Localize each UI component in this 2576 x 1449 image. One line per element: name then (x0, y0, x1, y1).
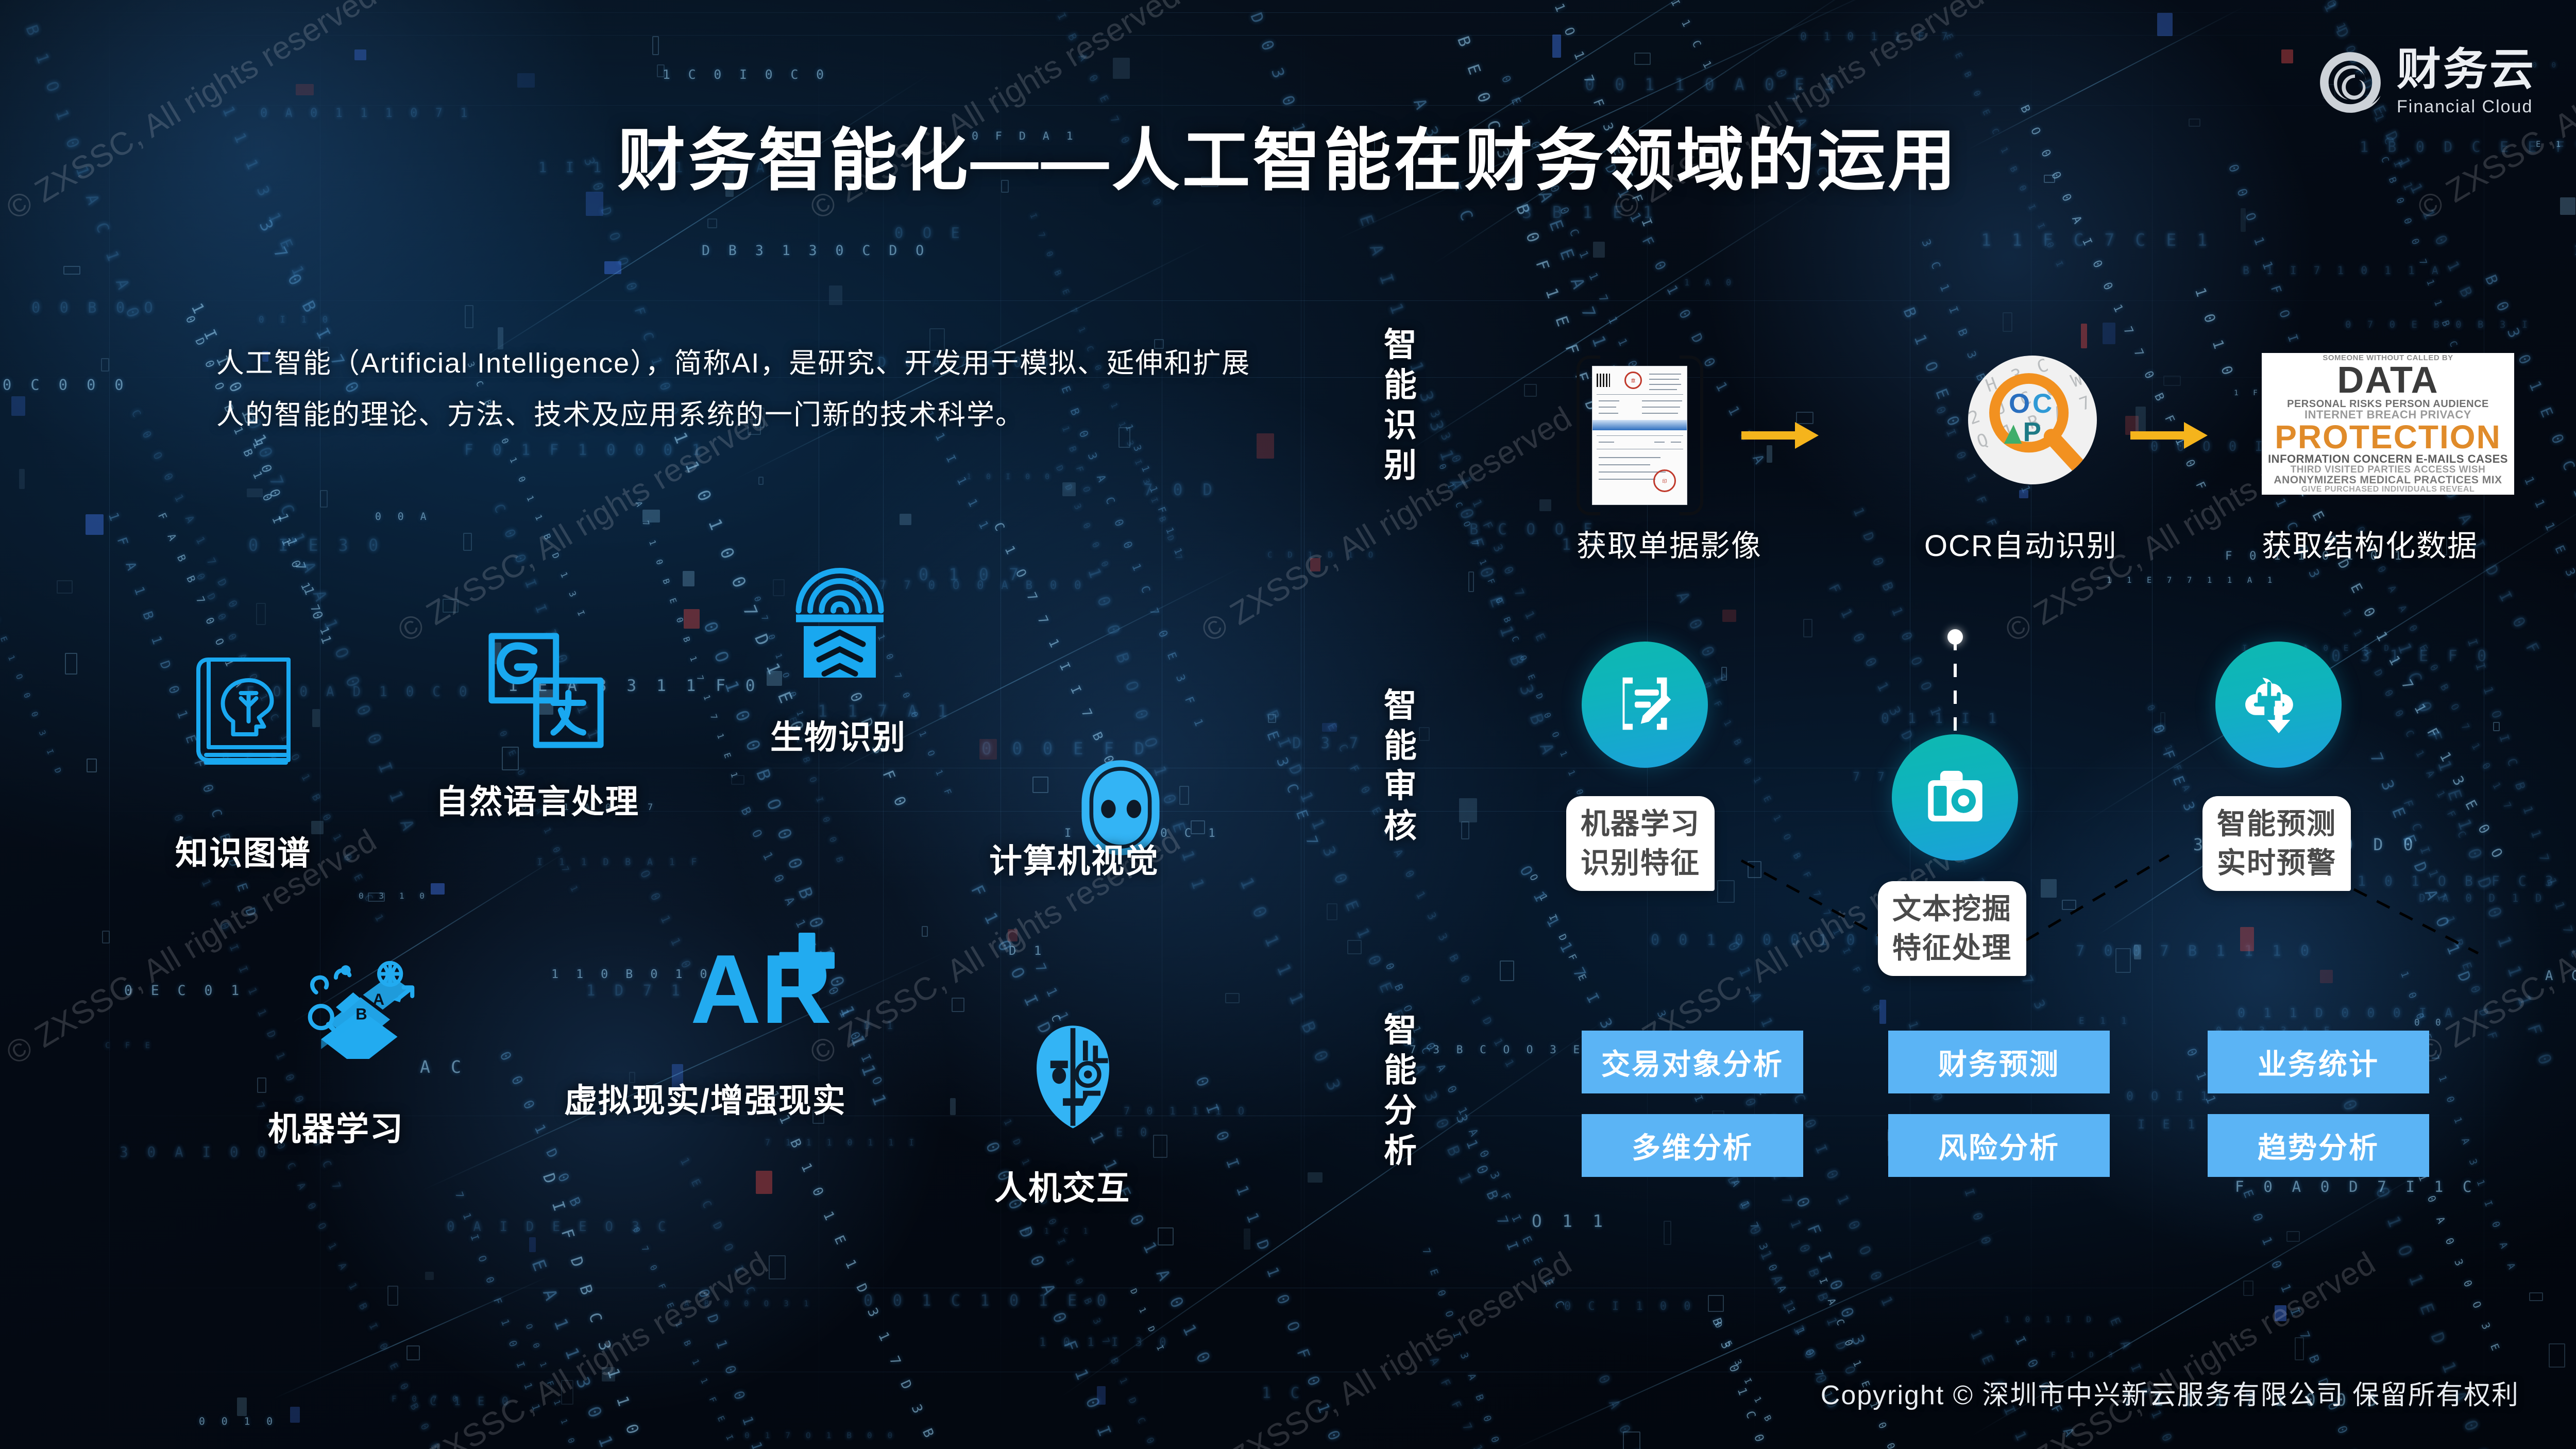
svg-text:P: P (2023, 417, 2041, 447)
tag-0-0[interactable]: 交易对象分析 (1582, 1031, 1803, 1093)
connector-dot (1947, 629, 1963, 645)
keyword-label: 计算机视觉 (989, 835, 1159, 882)
tag-1-1[interactable]: 风险分析 (1888, 1114, 2110, 1177)
keyword-label: 自然语言处理 (435, 776, 639, 823)
callout-line-2: 特征处理 (1892, 929, 2012, 968)
keyword-label: 人机交互 (994, 1162, 1130, 1209)
node-text-mining (1892, 734, 2018, 861)
tag-0-2[interactable]: 业务统计 (2208, 1031, 2429, 1093)
logo-text-en: Financial Cloud (2397, 97, 2533, 117)
ar-plus-icon: AR (690, 928, 840, 1049)
keyword-label: 生物识别 (770, 711, 906, 759)
ocr-magnifier-badge-icon: 5 H 3 C 2 U C O W Q 1 R A 7 O C P (1968, 356, 2097, 484)
tag-0-1[interactable]: 财务预测 (1888, 1031, 2110, 1093)
node-intelligent-forecast (2215, 642, 2342, 768)
callout-line-2: 识别特征 (1581, 844, 1700, 883)
callout-machine-learning: 机器学习 识别特征 (1566, 796, 1715, 891)
data-protection-wordcloud-icon: SOMEONE WITHOUT CALLED BYDATAPERSONAL RI… (2262, 353, 2514, 495)
section-label-recognition: 智能识别 (1381, 325, 1421, 485)
cloud-download-icon (2245, 674, 2312, 736)
copyright-text: Copyright © 深圳市中兴新云服务有限公司 保留所有权利 (1821, 1373, 2519, 1412)
wordcloud-row: ANONYMIZERS MEDICAL PRACTICES MIX (2274, 475, 2502, 485)
page-title: 财务智能化——人工智能在财务领域的运用 (0, 106, 2576, 204)
wordcloud-row: GIVE PURCHASED INDIVIDUALS REVEAL (2301, 485, 2475, 494)
callout-intelligent-forecast: 智能预测 实时预警 (2202, 796, 2351, 891)
callout-line-1: 机器学习 (1581, 804, 1700, 844)
node-machine-learning (1582, 642, 1708, 768)
invoice-image: 章 印 (1592, 366, 1687, 505)
section-label-analysis: 智能分析 (1381, 1010, 1421, 1171)
camera-icon (1924, 768, 1986, 827)
svg-text:O: O (2009, 389, 2030, 419)
flow-step-caption: 获取结构化数据 (2262, 521, 2478, 565)
wordcloud-row: PROTECTION (2275, 420, 2501, 453)
flow-step-caption: OCR自动识别 (1924, 521, 2117, 565)
watermark-text: © ZXSSC, All rights reserved (1999, 1244, 2382, 1449)
callout-line-2: 实时预警 (2217, 844, 2336, 883)
section-label-audit: 智能审核 (1381, 685, 1421, 846)
logo-text-cn: 财务云 (2397, 47, 2536, 92)
wordcloud-row: INFORMATION CONCERN E-MAILS CASES (2268, 453, 2508, 465)
flow-arrow-1-icon (1741, 420, 1819, 453)
laptop-learning-icon: B A (299, 946, 417, 1062)
callout-text-mining: 文本挖掘 特征处理 (1878, 881, 2026, 976)
svg-text:A: A (373, 990, 384, 1008)
document-edit-icon (1613, 671, 1677, 738)
wordcloud-row: DATA (2337, 362, 2438, 399)
svg-text:C: C (2032, 389, 2052, 419)
slide-canvas: B 3 0 1 C 0 1 0 1 E 1 D D C C I 1 1 D 0 … (0, 0, 2576, 1449)
swirl-cloud-logo-icon (2317, 49, 2383, 115)
brand-logo: 财务云 Financial Cloud (2317, 47, 2536, 117)
svg-text:B: B (355, 1005, 367, 1023)
book-brain-icon (191, 649, 309, 781)
wordcloud-row: PERSONAL RISKS PERSON AUDIENCE (2287, 399, 2489, 409)
translate-icon (484, 629, 608, 755)
keyword-label: 知识图谱 (175, 827, 311, 874)
wordcloud-row: THIRD VISITED PARTIES ACCESS WISH (2291, 465, 2486, 475)
fingerprint-icon (788, 559, 891, 680)
intro-paragraph: 人工智能（Artificial Intelligence），简称AI，是研究、开… (216, 338, 1252, 441)
keyword-label: 虚拟现实/增强现实 (564, 1074, 846, 1122)
tag-1-0[interactable]: 多维分析 (1582, 1114, 1803, 1177)
flow-arrow-2-icon (2130, 420, 2208, 453)
callout-line-1: 智能预测 (2217, 804, 2336, 844)
human-robot-face-icon (1028, 1023, 1118, 1134)
callout-line-1: 文本挖掘 (1892, 889, 2012, 929)
watermark-text: © ZXSSC, All rights reserved (392, 1244, 775, 1449)
watermark-text: © ZXSSC, All rights reserved (1195, 1244, 1579, 1449)
tag-1-2[interactable]: 趋势分析 (2208, 1114, 2429, 1177)
flow-step-caption: 获取单据影像 (1577, 521, 1762, 565)
keyword-label: 机器学习 (268, 1103, 404, 1150)
